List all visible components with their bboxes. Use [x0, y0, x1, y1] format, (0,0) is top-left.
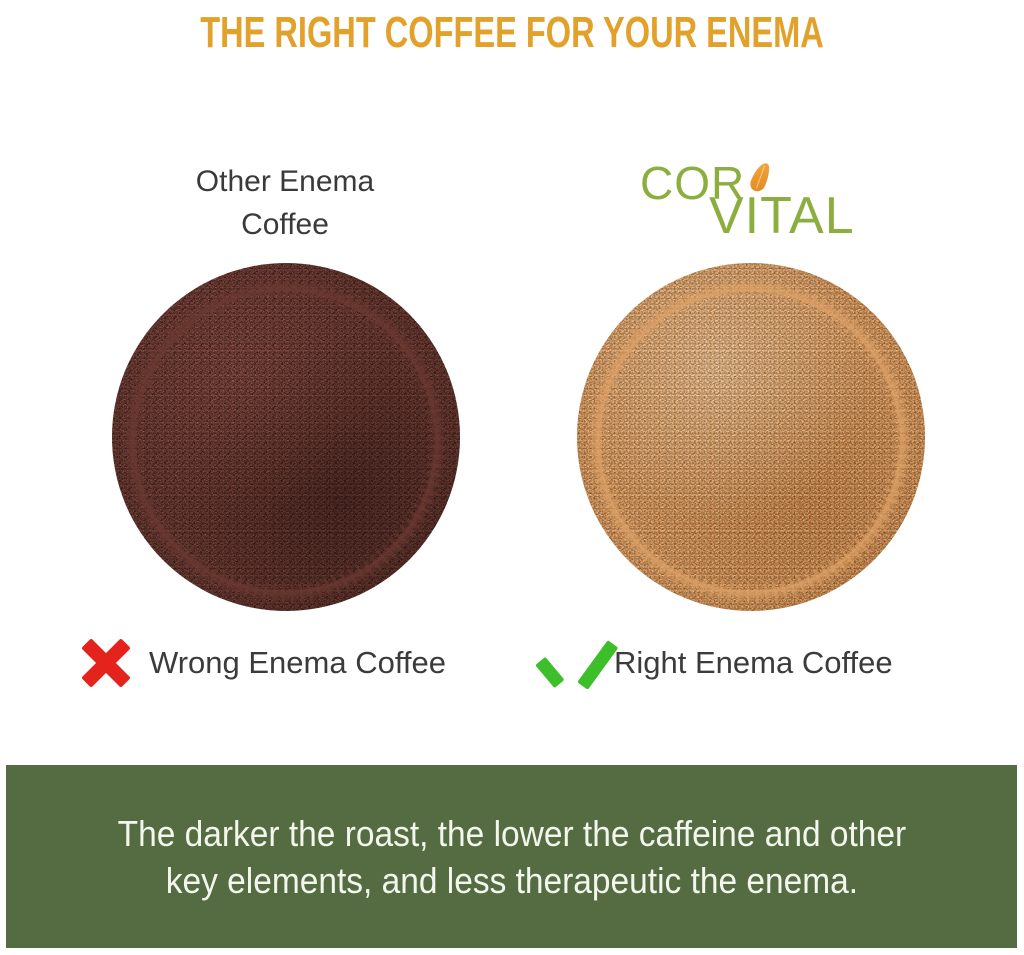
comparison-section: Other Enema Coffee Wrong Enema Coffee CO… — [0, 150, 1024, 730]
left-panel-caption: Other Enema Coffee — [55, 160, 515, 246]
comparison-panel-left: Other Enema Coffee Wrong Enema Coffee — [55, 150, 515, 710]
right-verdict-label: Right Enema Coffee — [614, 645, 893, 681]
coffee-grain-texture-overlay — [577, 263, 925, 611]
banner-message: The darker the roast, the lower the caff… — [80, 810, 943, 904]
light-roast-coffee-sample — [577, 263, 925, 611]
left-sample-container — [55, 263, 515, 619]
corvital-logo-inner: COR VITAL — [635, 158, 865, 244]
left-verdict-row: Wrong Enema Coffee — [55, 628, 515, 698]
right-sample-container — [520, 263, 980, 619]
poster-root: THE RIGHT COFFEE FOR YOUR ENEMA Other En… — [0, 0, 1024, 955]
coffee-grain-texture-overlay — [112, 263, 460, 611]
right-verdict-row: Right Enema Coffee — [520, 628, 980, 698]
corvital-logo-vital-text: VITAL — [709, 190, 855, 242]
comparison-panel-right: COR VITAL Right Enema Coffee — [520, 150, 980, 710]
corvital-logo: COR VITAL — [520, 158, 980, 248]
red-x-icon — [77, 634, 135, 692]
dark-roast-coffee-sample — [112, 263, 460, 611]
page-title: THE RIGHT COFFEE FOR YOUR ENEMA — [133, 8, 891, 58]
left-verdict-label: Wrong Enema Coffee — [149, 645, 446, 681]
bottom-banner: The darker the roast, the lower the caff… — [6, 765, 1017, 948]
green-check-icon — [542, 634, 600, 692]
